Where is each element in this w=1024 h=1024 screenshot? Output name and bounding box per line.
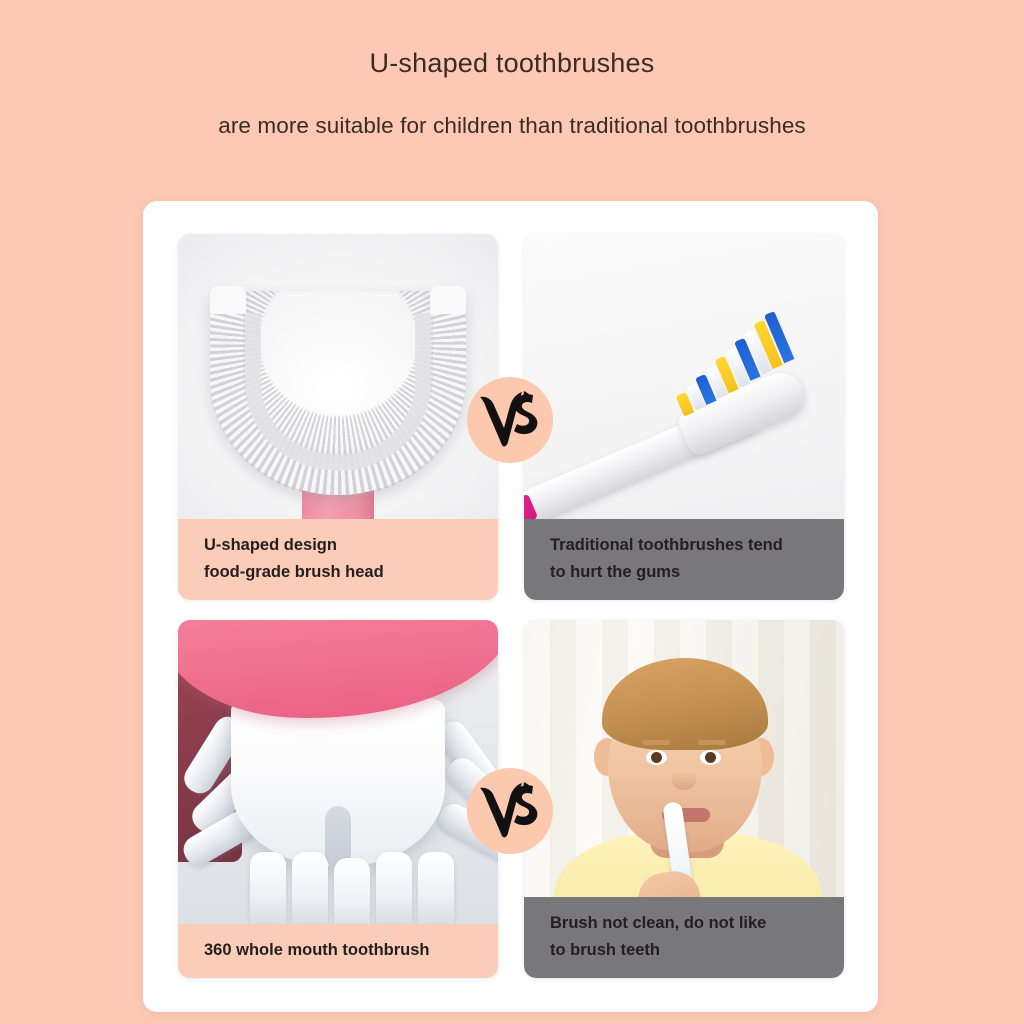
vs-badge-bottom (467, 768, 553, 854)
caption-line: U-shaped design (204, 532, 480, 559)
panel-grid: U-shaped design food-grade brush head Tr… (178, 234, 844, 978)
panel-traditional-toothbrush[interactable]: Traditional toothbrushes tend to hurt th… (524, 234, 844, 600)
caption-u-shaped-design: U-shaped design food-grade brush head (178, 519, 498, 600)
panel-u-shaped-brush-head[interactable]: U-shaped design food-grade brush head (178, 234, 498, 600)
headline-line-2: are more suitable for children than trad… (0, 111, 1024, 141)
caption-traditional-toothbrush: Traditional toothbrushes tend to hurt th… (524, 519, 844, 600)
caption-line: to brush teeth (550, 937, 826, 964)
caption-whole-mouth-toothbrush: 360 whole mouth toothbrush (178, 924, 498, 978)
caption-line: Brush not clean, do not like (550, 910, 826, 937)
vs-badge-top (467, 377, 553, 463)
comparison-card: U-shaped design food-grade brush head Tr… (143, 201, 878, 1012)
caption-line: Traditional toothbrushes tend (550, 532, 826, 559)
vs-icon (477, 781, 543, 841)
headline-line-1: U-shaped toothbrushes (0, 46, 1024, 80)
panel-whole-mouth-coverage[interactable]: 360 whole mouth toothbrush (178, 620, 498, 978)
caption-line: food-grade brush head (204, 559, 480, 586)
caption-line: 360 whole mouth toothbrush (204, 937, 480, 964)
caption-line: to hurt the gums (550, 559, 826, 586)
panel-child-brushing[interactable]: Brush not clean, do not like to brush te… (524, 620, 844, 978)
headline-block: U-shaped toothbrushes are more suitable … (0, 46, 1024, 141)
vs-icon (477, 390, 543, 450)
caption-child-brushing: Brush not clean, do not like to brush te… (524, 897, 844, 978)
